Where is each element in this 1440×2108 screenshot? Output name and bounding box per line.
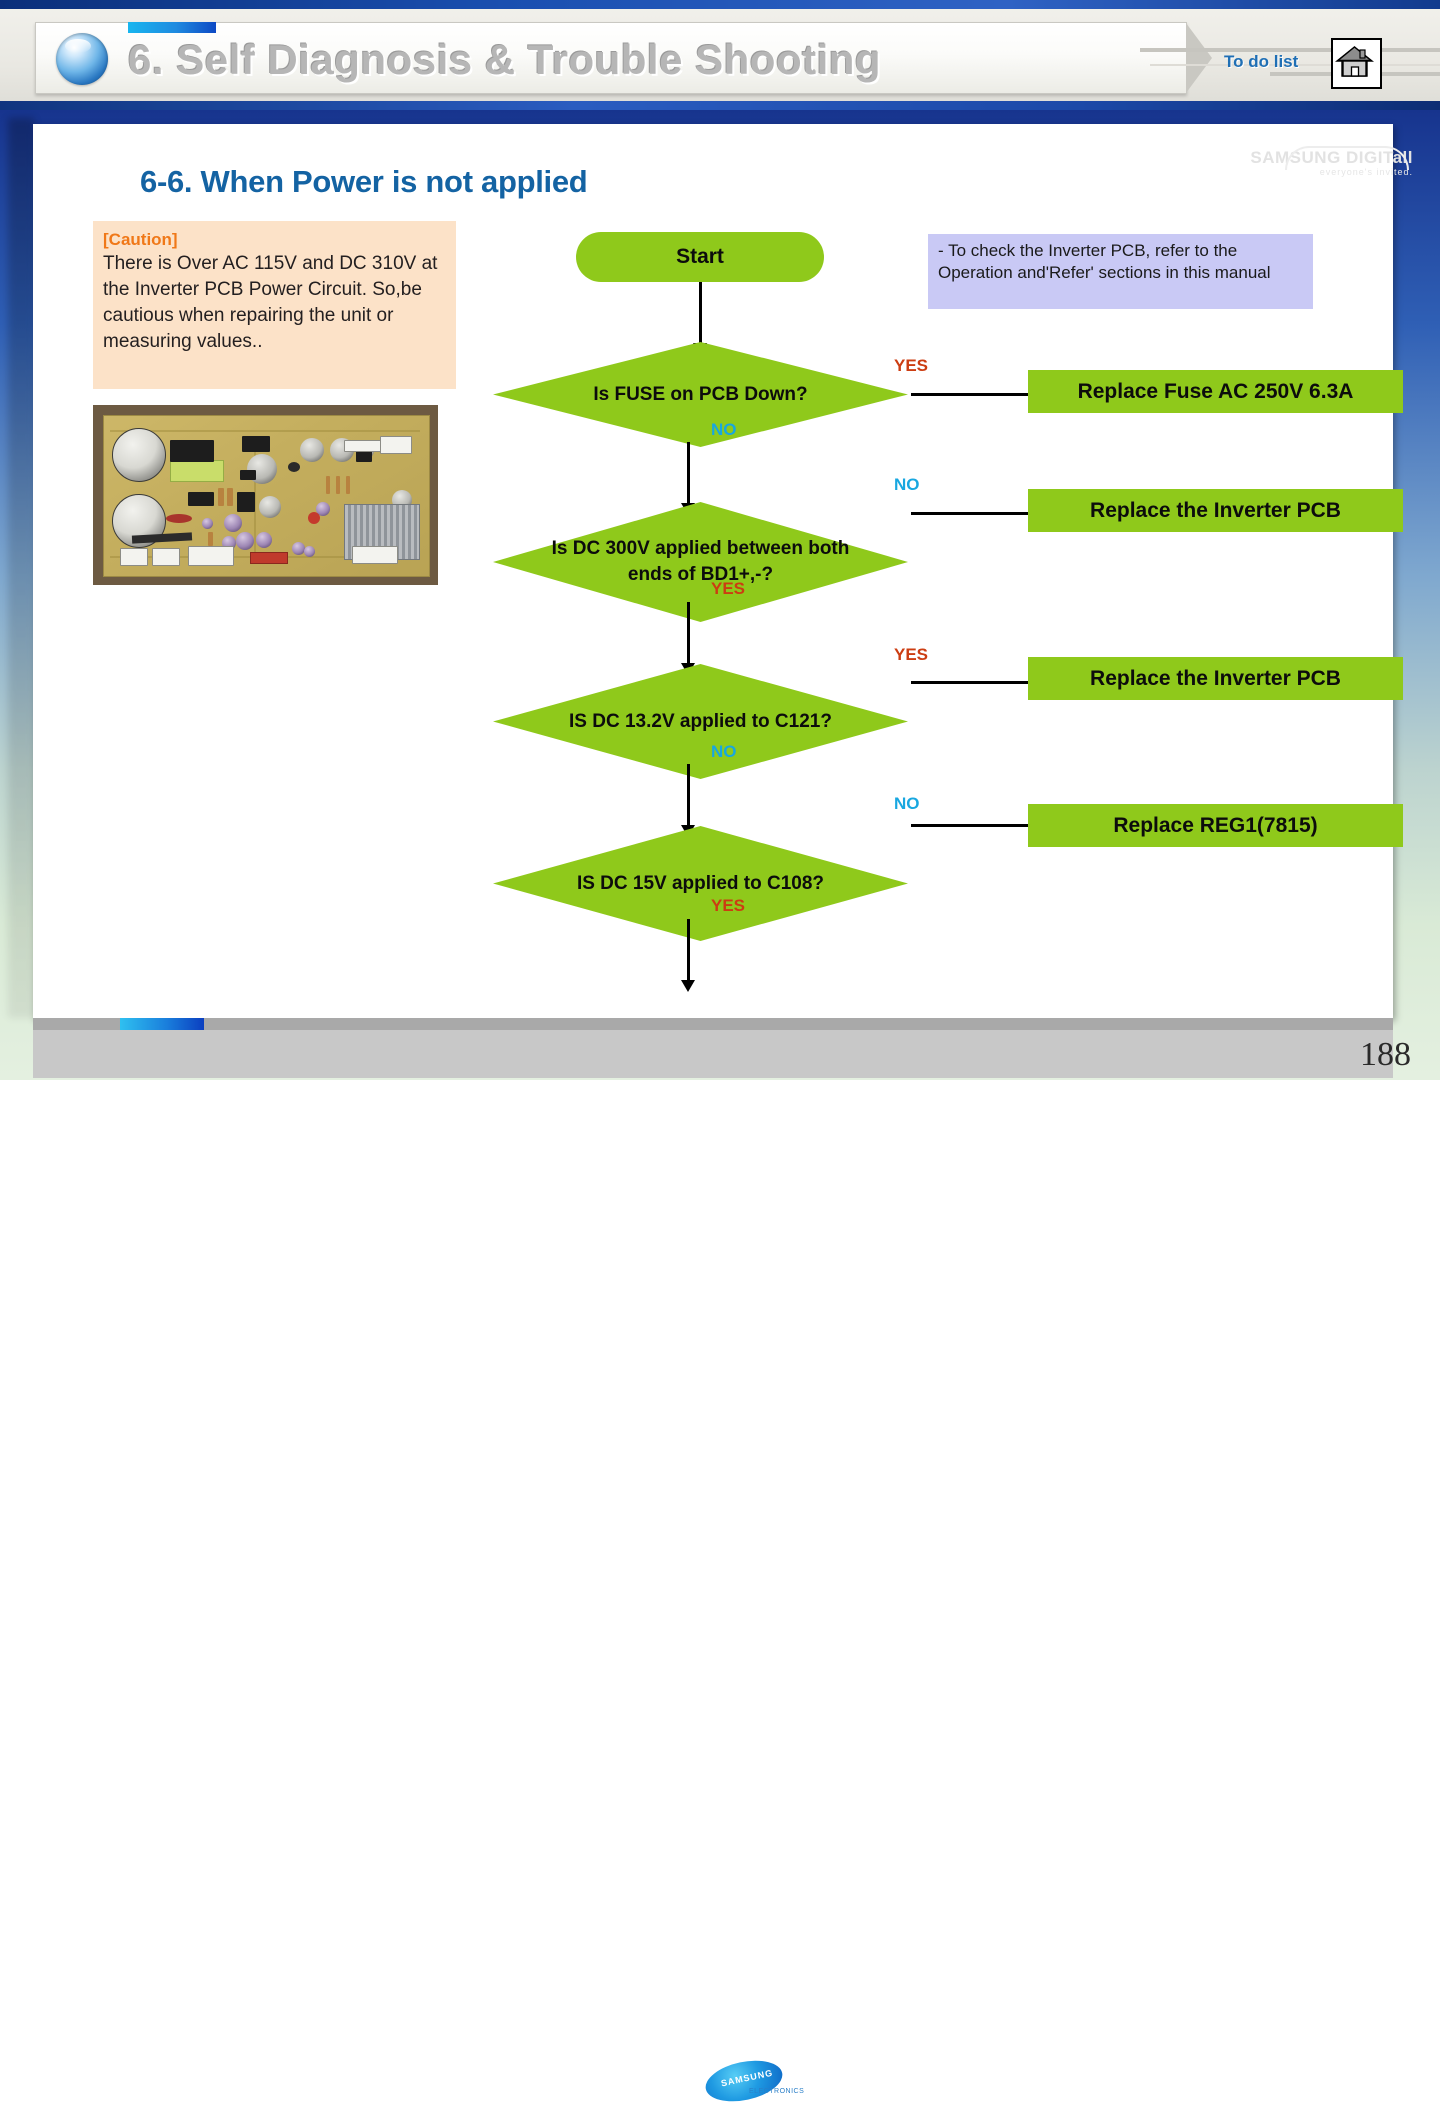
chapter-title: 6. Self Diagnosis & Trouble Shooting [128, 34, 1128, 86]
flow-arrow-4-down [687, 919, 690, 981]
flow-arrow-start-to-step1 [699, 282, 702, 344]
decision-4-question: IS DC 15V applied to C108? [493, 826, 908, 941]
samsung-digitall-watermark: SAMSUNG DIGITall everyone's invited. [1248, 148, 1413, 188]
caution-text: There is Over AC 115V and DC 310V at the… [103, 251, 446, 355]
flow-result-1[interactable]: Replace Fuse AC 250V 6.3A [1028, 370, 1403, 413]
home-icon[interactable] [1331, 38, 1382, 89]
reference-note-box: - To check the Inverter PCB, refer to th… [928, 234, 1313, 309]
blue-orb-icon [56, 33, 108, 85]
flow-result-3[interactable]: Replace the Inverter PCB [1028, 657, 1403, 700]
samsung-logo: SAMSUNG ELECTRONICS [705, 2060, 803, 2102]
page-number: 188 [1360, 1036, 1411, 1074]
flow-branch-4-label: NO [894, 794, 920, 814]
flow-result-4[interactable]: Replace REG1(7815) [1028, 804, 1403, 847]
flow-arrow-4-branch [911, 824, 1046, 827]
caution-label: [Caution] [103, 229, 446, 251]
flow-branch-2-label: NO [894, 475, 920, 495]
decision-2-question: Is DC 300V applied between both ends of … [493, 502, 908, 622]
watermark-line-2: everyone's invited. [1248, 167, 1413, 177]
flow-arrow-1-down [687, 442, 690, 504]
flow-branch-1-label: YES [894, 356, 928, 376]
slide-bottom-accent-chip [120, 1018, 204, 1030]
inverter-pcb-photo [93, 405, 438, 585]
flow-decision-1[interactable]: Is FUSE on PCB Down? [493, 342, 908, 447]
decision-3-question: IS DC 13.2V applied to C121? [493, 664, 908, 779]
samsung-logo-subtext: ELECTRONICS [749, 2088, 804, 2095]
slide-footer: SAMSUNG ELECTRONICS [33, 1030, 1393, 1078]
slide-bottom-bar [33, 1018, 1393, 1030]
flow-down-3-label: NO [711, 742, 737, 762]
watermark-line-1: SAMSUNG DIGITall [1248, 148, 1413, 167]
flow-down-4-label: YES [711, 896, 745, 916]
to-do-list-link[interactable]: To do list [1224, 52, 1298, 72]
banner-accent-bar [128, 22, 216, 33]
flow-down-2-label: YES [711, 579, 745, 599]
flow-arrow-3-down [687, 764, 690, 826]
banner-top-rule [0, 0, 1440, 9]
app-header-banner: 6. Self Diagnosis & Trouble Shooting To … [0, 0, 1440, 110]
slide-canvas: 6-6. When Power is not applied SAMSUNG D… [33, 124, 1393, 1018]
pcb-board-surface [103, 415, 430, 577]
page-title: 6-6. When Power is not applied [140, 164, 587, 200]
decision-1-question: Is FUSE on PCB Down? [493, 342, 908, 447]
flow-branch-3-label: YES [894, 645, 928, 665]
flow-arrow-2-down [687, 602, 690, 664]
flow-result-2[interactable]: Replace the Inverter PCB [1028, 489, 1403, 532]
flow-arrow-1-branch [911, 393, 1046, 396]
flow-down-1-label: NO [711, 420, 737, 440]
caution-box: [Caution] There is Over AC 115V and DC 3… [93, 221, 456, 389]
flow-decision-4[interactable]: IS DC 15V applied to C108? [493, 826, 908, 941]
flow-start-node[interactable]: Start [576, 232, 824, 282]
flow-decision-2[interactable]: Is DC 300V applied between both ends of … [493, 502, 908, 622]
flow-arrow-3-branch [911, 681, 1046, 684]
flow-decision-3[interactable]: IS DC 13.2V applied to C121? [493, 664, 908, 779]
slide-drop-shadow [8, 118, 34, 1018]
flow-arrow-2-branch [911, 512, 1046, 515]
